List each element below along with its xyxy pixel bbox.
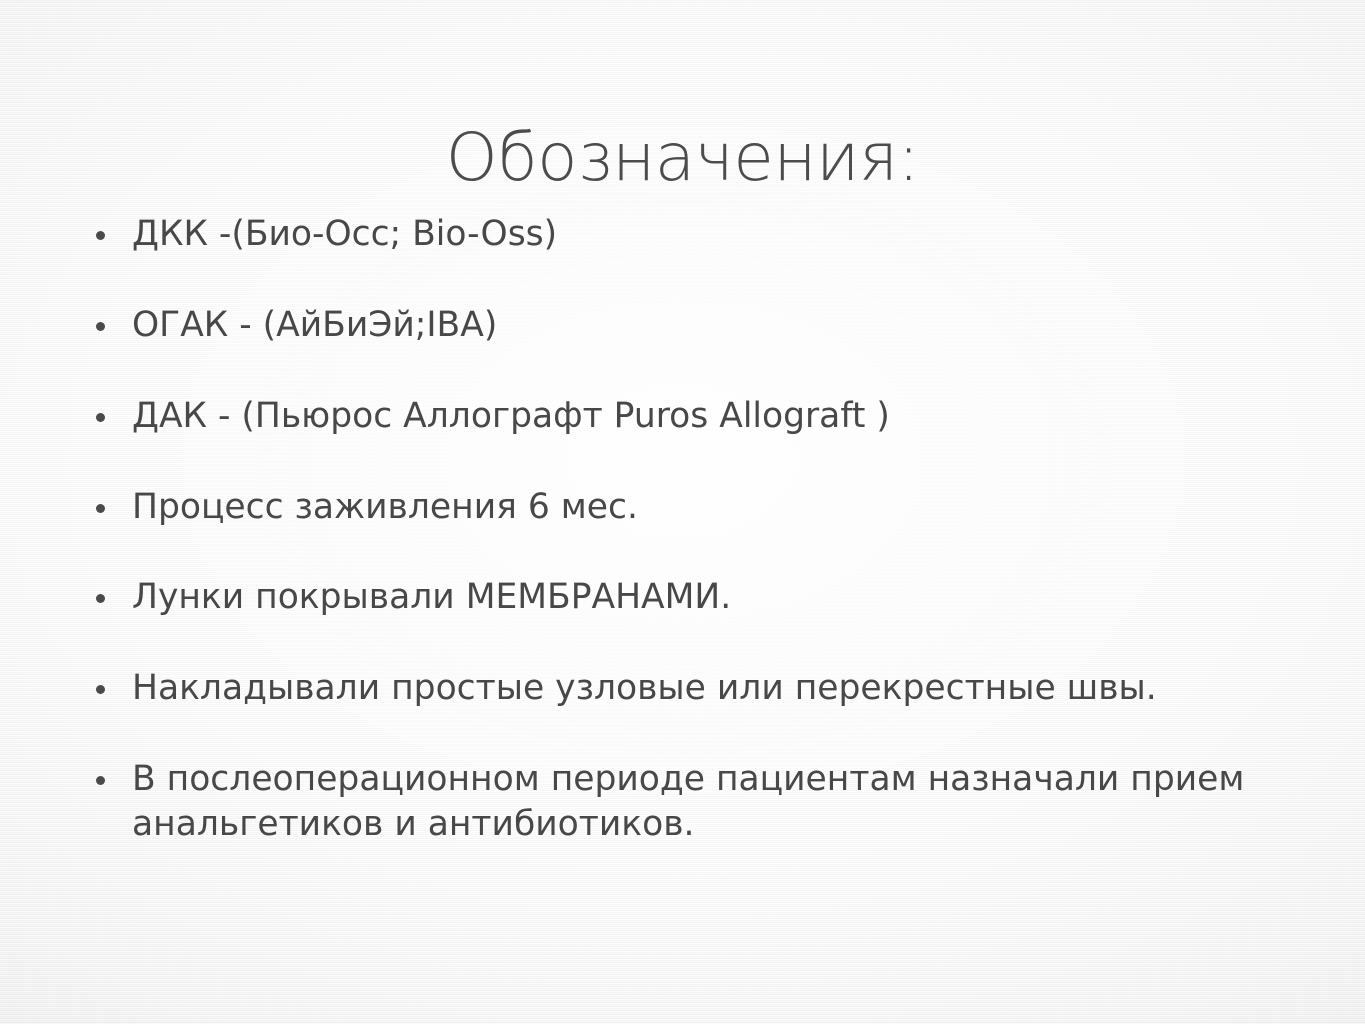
list-item-label: В послеоперационном периоде пациентам на… bbox=[132, 757, 1286, 847]
list-item: ДАК - (Пьюрос Аллографт Puros Allograft … bbox=[86, 394, 1286, 439]
bullet-dot-icon bbox=[96, 413, 105, 422]
bullet-list: ДКК -(Био-Осс; Bio-Oss) ОГАК - (АйБиЭй;I… bbox=[86, 212, 1286, 847]
slide-content: Обозначения: ДКК -(Био-Осс; Bio-Oss) ОГА… bbox=[0, 0, 1365, 1024]
bullet-dot-icon bbox=[96, 594, 105, 603]
bullet-dot-icon bbox=[96, 231, 105, 240]
list-item: Процесс заживления 6 мес. bbox=[86, 485, 1286, 530]
list-item-label: ДКК -(Био-Осс; Bio-Oss) bbox=[132, 212, 1286, 257]
page-title: Обозначения: bbox=[0, 122, 1365, 193]
list-item: ДКК -(Био-Осс; Bio-Oss) bbox=[86, 212, 1286, 257]
list-item-label: Лунки покрывали МЕМБРАНАМИ. bbox=[132, 575, 1286, 620]
list-item-label: Накладывали простые узловые или перекрес… bbox=[132, 666, 1286, 711]
list-item-label: ОГАК - (АйБиЭй;IBA) bbox=[132, 303, 1286, 348]
bullet-dot-icon bbox=[96, 776, 105, 785]
list-item-label: ДАК - (Пьюрос Аллографт Puros Allograft … bbox=[132, 394, 1286, 439]
presentation-slide: Обозначения: ДКК -(Био-Осс; Bio-Oss) ОГА… bbox=[0, 0, 1365, 1024]
bullet-dot-icon bbox=[96, 322, 105, 331]
list-item-label: Процесс заживления 6 мес. bbox=[132, 485, 1286, 530]
list-item: Лунки покрывали МЕМБРАНАМИ. bbox=[86, 575, 1286, 620]
list-item: Накладывали простые узловые или перекрес… bbox=[86, 666, 1286, 711]
list-item: ОГАК - (АйБиЭй;IBA) bbox=[86, 303, 1286, 348]
bullet-dot-icon bbox=[96, 504, 105, 513]
list-item: В послеоперационном периоде пациентам на… bbox=[86, 757, 1286, 847]
bullet-dot-icon bbox=[96, 685, 105, 694]
